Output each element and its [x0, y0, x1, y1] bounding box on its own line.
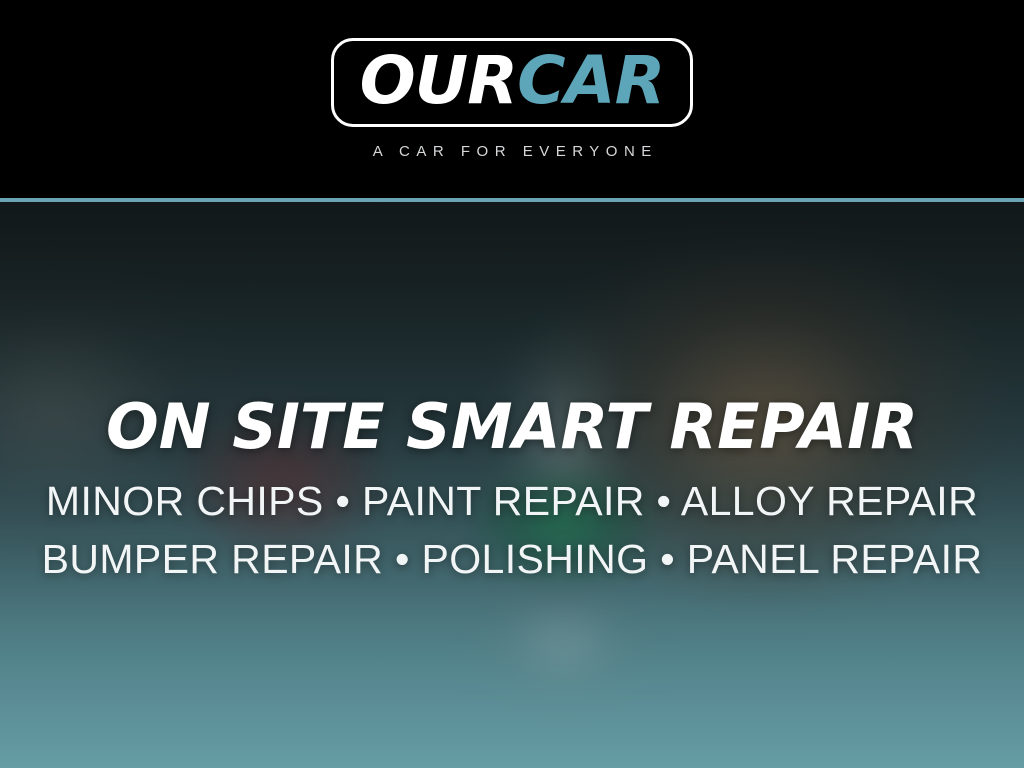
logo-wordmark: OURCAR [360, 47, 665, 114]
hero-headline: ON SITE SMART REPAIR [0, 396, 1024, 458]
promo-banner-page: OURCAR A CAR FOR EVERYONE ON SITE SMART … [0, 0, 1024, 768]
hero-content: ON SITE SMART REPAIR MINOR CHIPS • PAINT… [0, 202, 1024, 768]
brand-tagline: A CAR FOR EVERYONE [366, 143, 658, 160]
logo-frame: OURCAR [331, 38, 694, 127]
hero-section: ON SITE SMART REPAIR MINOR CHIPS • PAINT… [0, 202, 1024, 768]
service-line-2: BUMPER REPAIR • POLISHING • PANEL REPAIR [0, 530, 1024, 588]
site-header: OURCAR A CAR FOR EVERYONE [0, 0, 1024, 198]
brand-lockup[interactable]: OURCAR A CAR FOR EVERYONE [331, 38, 694, 160]
logo-text-car: CAR [517, 42, 664, 119]
logo-text-our: OUR [360, 42, 518, 119]
service-list: MINOR CHIPS • PAINT REPAIR • ALLOY REPAI… [0, 472, 1024, 588]
service-line-1: MINOR CHIPS • PAINT REPAIR • ALLOY REPAI… [0, 472, 1024, 530]
